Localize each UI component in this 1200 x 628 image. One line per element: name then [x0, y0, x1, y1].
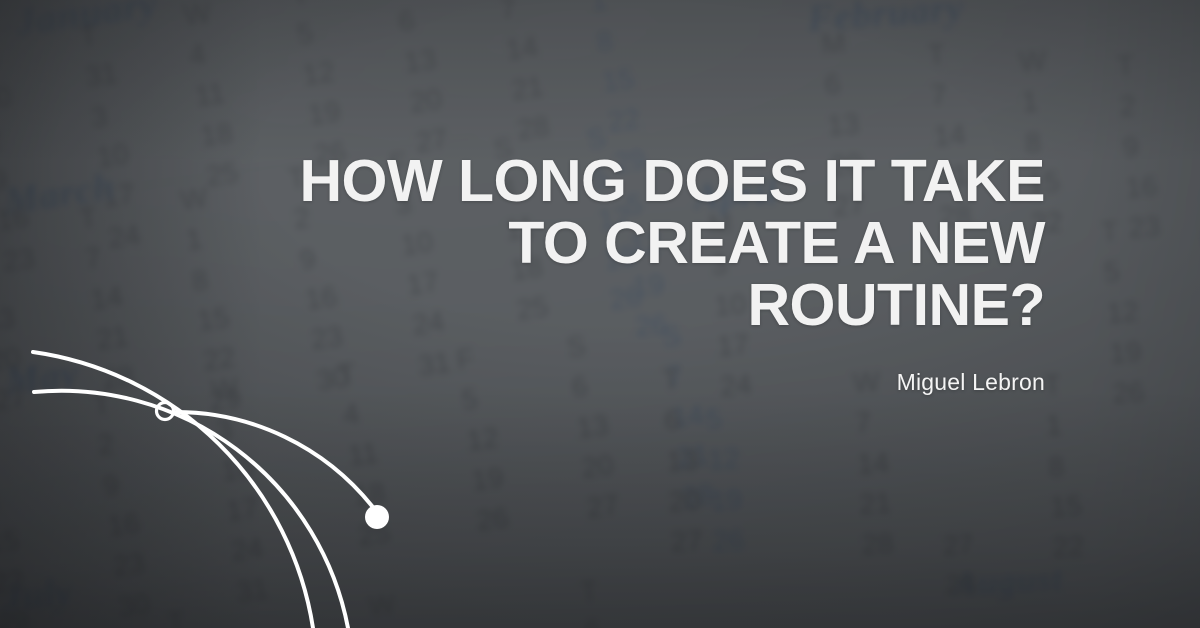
headline-line-3: ROUTINE? [747, 272, 1045, 338]
blog-cover-card: January M302 91623 T313 101724 W411 1825… [0, 0, 1200, 628]
page-title: HOW LONG DOES IT TAKE TO CREATE A NEW RO… [185, 150, 1045, 336]
cover-text-block: HOW LONG DOES IT TAKE TO CREATE A NEW RO… [185, 150, 1045, 396]
author-byline: Miguel Lebron [185, 369, 1045, 396]
headline-line-2: TO CREATE A NEW [508, 210, 1045, 276]
headline-line-1: HOW LONG DOES IT TAKE [299, 148, 1045, 214]
